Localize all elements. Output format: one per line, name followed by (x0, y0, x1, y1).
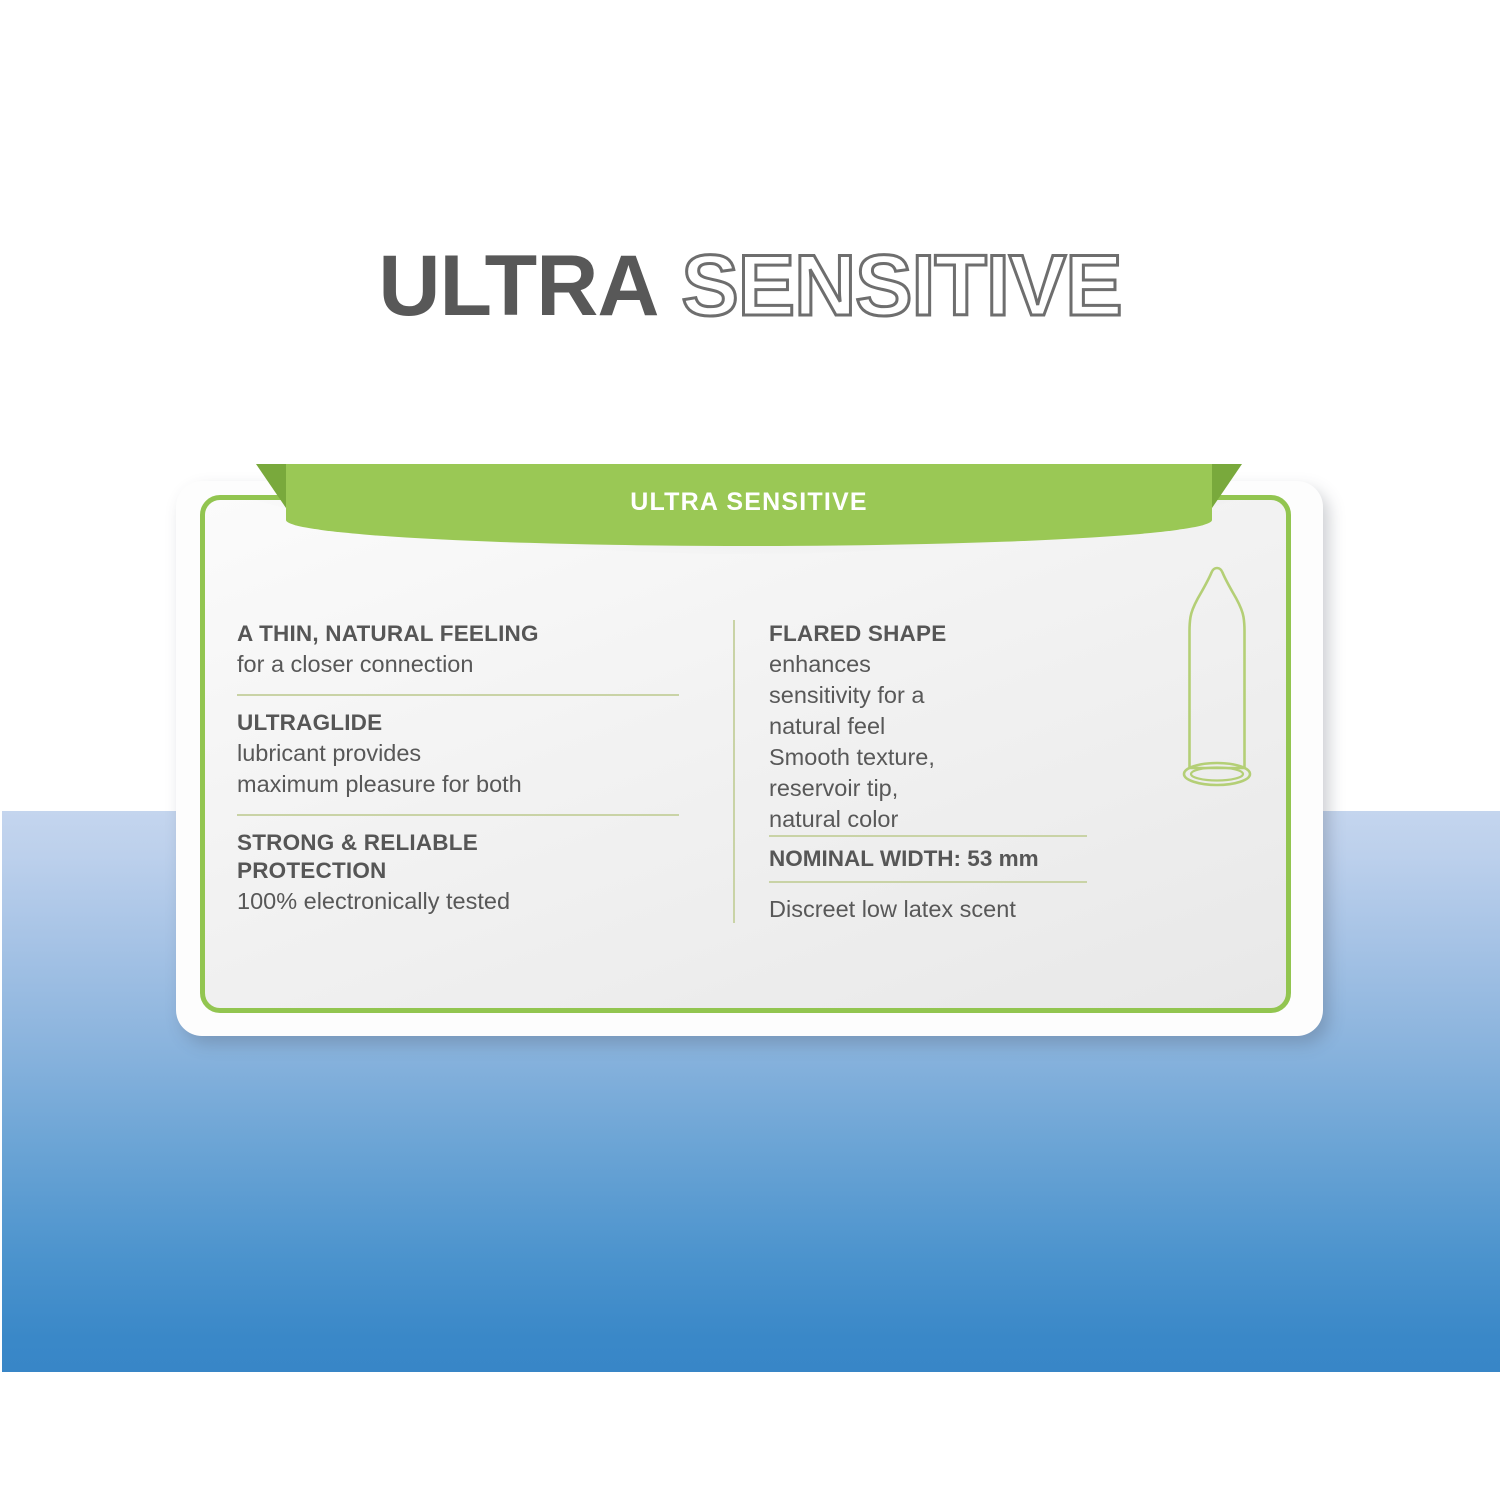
condom-outline-icon (1158, 563, 1276, 803)
ribbon-fold-right-icon (1212, 464, 1242, 508)
ribbon-banner: ULTRA SENSITIVE (256, 464, 1242, 554)
feature-heading: ULTRAGLIDE (237, 709, 679, 738)
feature-column-left: A THIN, NATURAL FEELING for a closer con… (237, 620, 679, 917)
feature-thin-natural-feeling: A THIN, NATURAL FEELING for a closer con… (237, 620, 679, 680)
feature-heading: FLARED SHAPE (769, 620, 1099, 649)
feature-body: 100% electronically tested (237, 886, 679, 917)
feature-body: enhances sensitivity for a natural feel … (769, 649, 1099, 835)
feature-ultraglide: ULTRAGLIDE lubricant provides maximum pl… (237, 709, 679, 800)
page-title-solid-word: ULTRA (378, 238, 658, 334)
feature-strong-reliable-protection: STRONG & RELIABLE PROTECTION 100% electr… (237, 829, 679, 918)
page-title: ULTRA SENSITIVE (0, 243, 1500, 329)
feature-flared-shape: FLARED SHAPE enhances sensitivity for a … (769, 620, 1099, 835)
feature-heading: A THIN, NATURAL FEELING (237, 620, 679, 649)
ribbon-title-text: ULTRA SENSITIVE (630, 488, 867, 517)
feature-body: lubricant provides maximum pleasure for … (237, 738, 679, 800)
feature-heading: STRONG & RELIABLE PROTECTION (237, 829, 679, 887)
ribbon-fold-left-icon (256, 464, 286, 508)
feature-body: for a closer connection (237, 649, 679, 680)
ribbon-body: ULTRA SENSITIVE (286, 464, 1212, 546)
page-title-outline-word: SENSITIVE (681, 238, 1121, 334)
